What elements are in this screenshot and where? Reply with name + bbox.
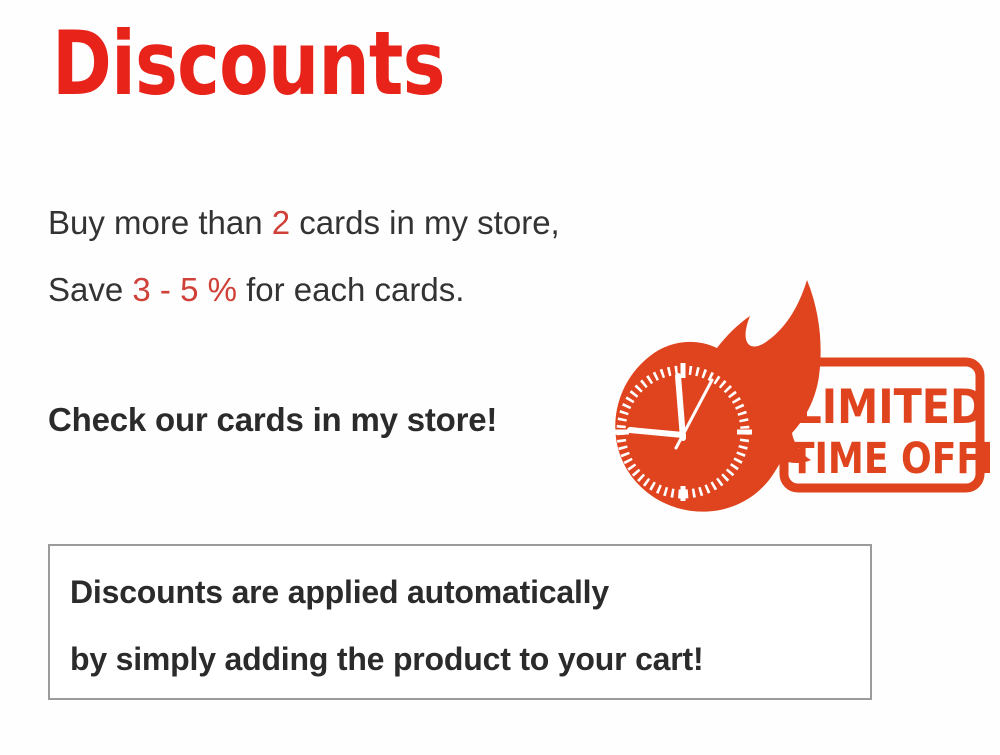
notice-line-2: by simply adding the product to your car… [70, 640, 703, 678]
cta-text: Check our cards in my store! [48, 400, 497, 440]
page-title: Discounts [52, 18, 445, 110]
notice-box: Discounts are applied automatically by s… [48, 544, 872, 700]
offer-line-1-highlight: 2 [272, 204, 290, 241]
notice-line-1: Discounts are applied automatically [70, 573, 609, 611]
offer-line-2-suffix: for each cards. [237, 271, 464, 308]
offer-line-2-highlight: 3 - 5 % [132, 271, 237, 308]
offer-line-1-suffix: cards in my store, [290, 204, 560, 241]
badge-line-1: LIMITED [795, 381, 984, 435]
promo-banner: Discounts Buy more than 2 cards in my st… [0, 0, 1000, 755]
badge-line-2: TIME OFFER [790, 434, 990, 484]
offer-line-1: Buy more than 2 cards in my store, [48, 204, 560, 242]
offer-line-1-prefix: Buy more than [48, 204, 272, 241]
limited-time-offer-graphic: LIMITED TIME OFFER [600, 268, 990, 518]
offer-line-2-prefix: Save [48, 271, 132, 308]
offer-line-2: Save 3 - 5 % for each cards. [48, 271, 464, 309]
